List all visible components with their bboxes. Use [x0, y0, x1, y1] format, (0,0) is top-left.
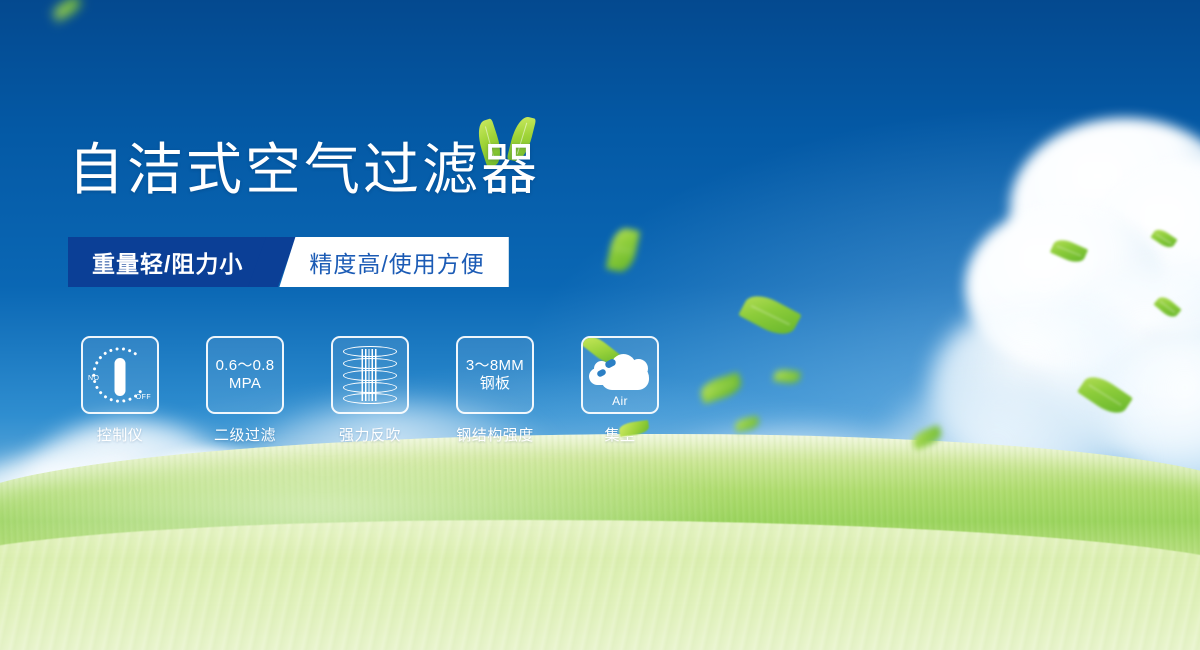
feature-item-two-stage-filter[interactable]: 0.6～0.8 MPA 二级过滤 [206, 336, 284, 445]
feature-label: 控制仪 [81, 424, 159, 445]
ribbon-right-text: 精度高/使用方便 [309, 245, 484, 279]
feature-label: 二级过滤 [206, 424, 284, 445]
ribbon-left-text: 重量轻/阻力小 [92, 245, 243, 279]
feature-item-steel-strength[interactable]: 3～8MM 钢板 钢结构强度 [456, 336, 534, 445]
ribbon-right-panel: 精度高/使用方便 [279, 237, 508, 287]
steel-material: 钢板 [466, 375, 524, 393]
feature-icon-box: 0.6～0.8 MPA [206, 336, 284, 414]
pressure-text-icon: 0.6～0.8 MPA [216, 357, 275, 392]
control-dial-icon: NO OFF [88, 345, 152, 405]
subtitle-ribbon: 重量轻/阻力小 精度高/使用方便 [68, 237, 509, 287]
feature-icon-box: Air [581, 336, 659, 414]
dial-off-label: OFF [136, 394, 151, 401]
feature-item-control-dial[interactable]: NO OFF 控制仪 [81, 336, 159, 445]
feature-label: 钢结构强度 [447, 424, 543, 445]
pressure-unit: MPA [216, 375, 275, 393]
ribbon-left-panel: 重量轻/阻力小 [68, 237, 273, 287]
filter-cartridge-icon [343, 346, 397, 404]
product-hero-banner: 自洁式空气过滤器 重量轻/阻力小 精度高/使用方便 [0, 0, 1200, 650]
feature-icon-row: NO OFF 控制仪 0.6～0.8 MPA 二级过滤 [81, 336, 659, 445]
dial-needle-icon [115, 358, 126, 396]
feature-item-dust-collection[interactable]: Air 集尘 [581, 336, 659, 445]
feature-item-back-blow[interactable]: 强力反吹 [331, 336, 409, 445]
grass-streaks [0, 520, 1200, 650]
feature-icon-box: 3～8MM 钢板 [456, 336, 534, 414]
page-title: 自洁式空气过滤器 [68, 142, 540, 198]
feature-label: 强力反吹 [331, 424, 409, 445]
steel-plate-text-icon: 3～8MM 钢板 [466, 357, 524, 392]
feature-icon-box [331, 336, 409, 414]
dial-on-label: NO [88, 375, 99, 382]
steel-thickness: 3～8MM [466, 357, 524, 375]
feature-icon-box: NO OFF [81, 336, 159, 414]
air-cloud-icon: Air [587, 346, 653, 404]
air-label: Air [587, 394, 653, 408]
pressure-range: 0.6～0.8 [216, 357, 275, 375]
